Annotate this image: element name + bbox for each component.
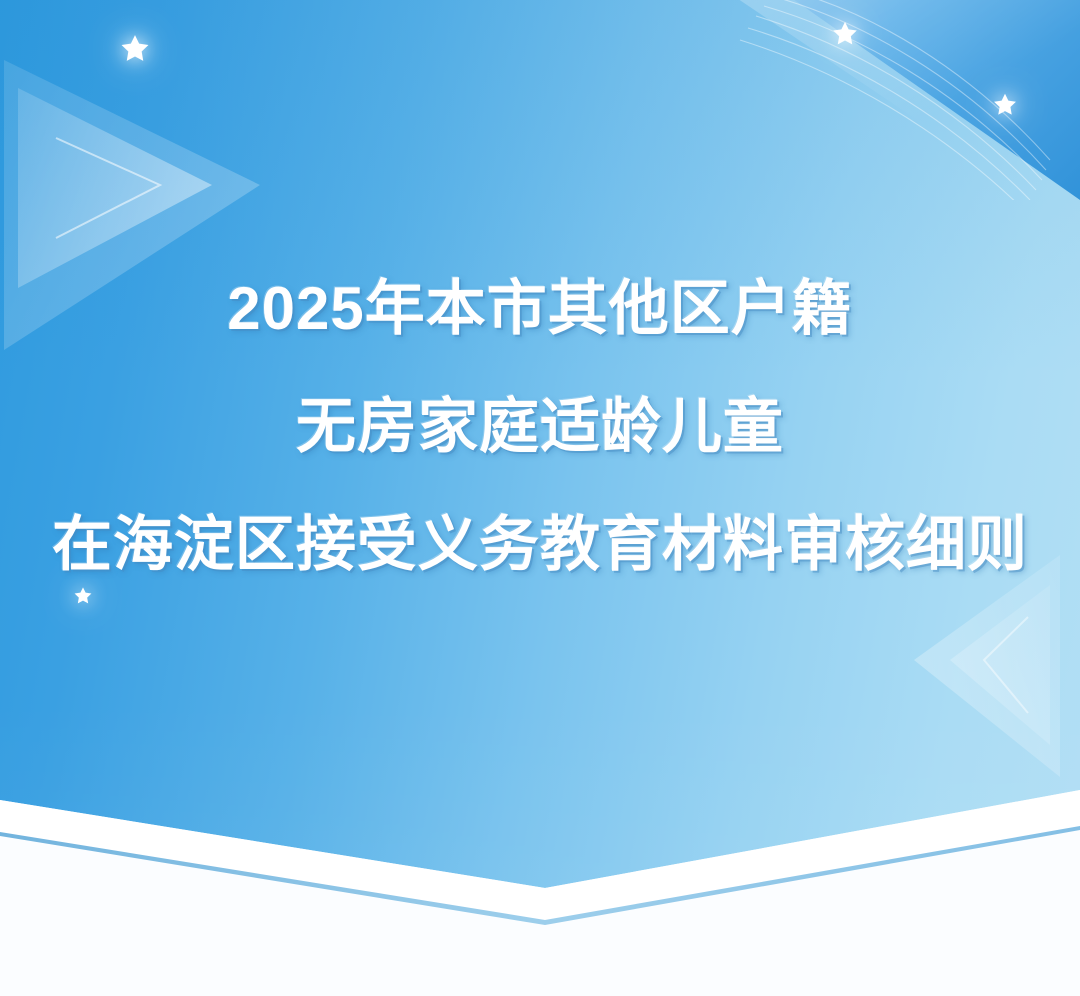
poster-title: 2025年本市其他区户籍 无房家庭适龄儿童 在海淀区接受义务教育材料审核细则 [0, 250, 1080, 604]
title-line-2: 无房家庭适龄儿童 [0, 368, 1080, 486]
poster-banner: 2025年本市其他区户籍 无房家庭适龄儿童 在海淀区接受义务教育材料审核细则 [0, 0, 1080, 996]
title-line-3: 在海淀区接受义务教育材料审核细则 [0, 486, 1080, 604]
title-line-1: 2025年本市其他区户籍 [0, 250, 1080, 368]
star-icon-top-right [992, 92, 1018, 118]
curved-ribbon-lines [720, 0, 1080, 200]
star-icon-top-center [831, 20, 859, 48]
star-icon-top-left [119, 33, 151, 65]
